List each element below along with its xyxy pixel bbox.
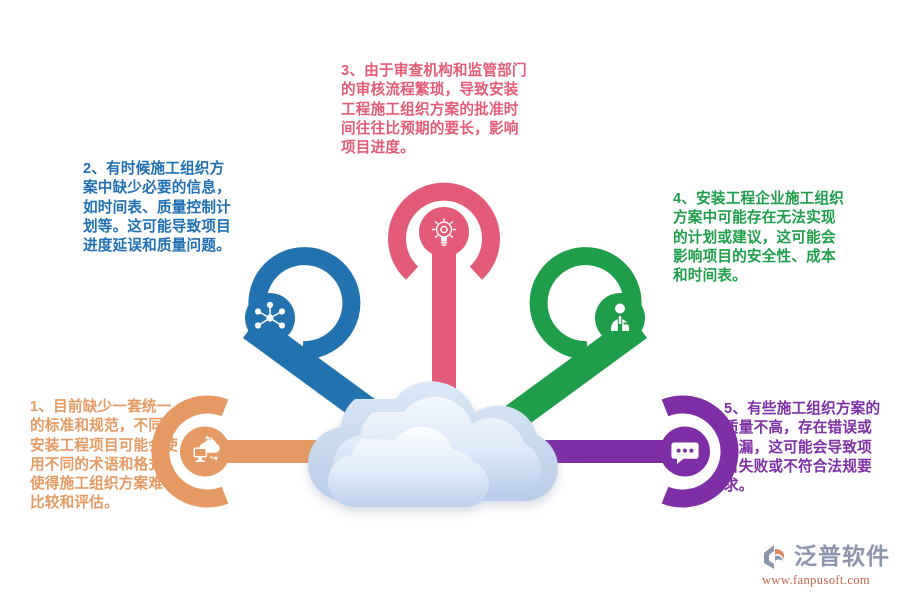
logo-text: 泛普软件	[794, 545, 890, 568]
infographic-canvas: 1、目前缺少一套统一的标准和规范，不同的安装工程项目可能会使用不同的术语和格式，…	[0, 0, 900, 600]
brand-logo[interactable]: 泛普软件 www.fanpusoft.com	[760, 538, 892, 592]
node-5-text: 5、有些施工组织方案的质量不高，存在错误或遗漏，这可能会导致项目失败或不符合法规…	[724, 400, 884, 496]
node-4-text: 4、安装工程企业施工组织方案中可能存在无法实现的计划或建议，这可能会影响项目的安…	[673, 190, 845, 286]
logo-url: www.fanpusoft.com	[762, 573, 870, 588]
node-4[interactable]	[539, 256, 645, 350]
node-1-text: 1、目前缺少一套统一的标准和规范，不同的安装工程项目可能会使用不同的术语和格式，…	[30, 398, 182, 514]
node-5[interactable]	[660, 404, 730, 498]
node-3-text: 3、由于审查机构和监管部门的审核流程繁琐，导致安装工程施工组织方案的批准时间往往…	[341, 62, 531, 158]
node-2-text: 2、有时候施工组织方案中缺少必要的信息，如时间表、质量控制计划等。这可能导致项目…	[83, 160, 233, 256]
logo-row: 泛普软件	[760, 543, 890, 571]
node-2[interactable]	[245, 256, 351, 350]
fanpu-logo-mark	[760, 543, 790, 571]
